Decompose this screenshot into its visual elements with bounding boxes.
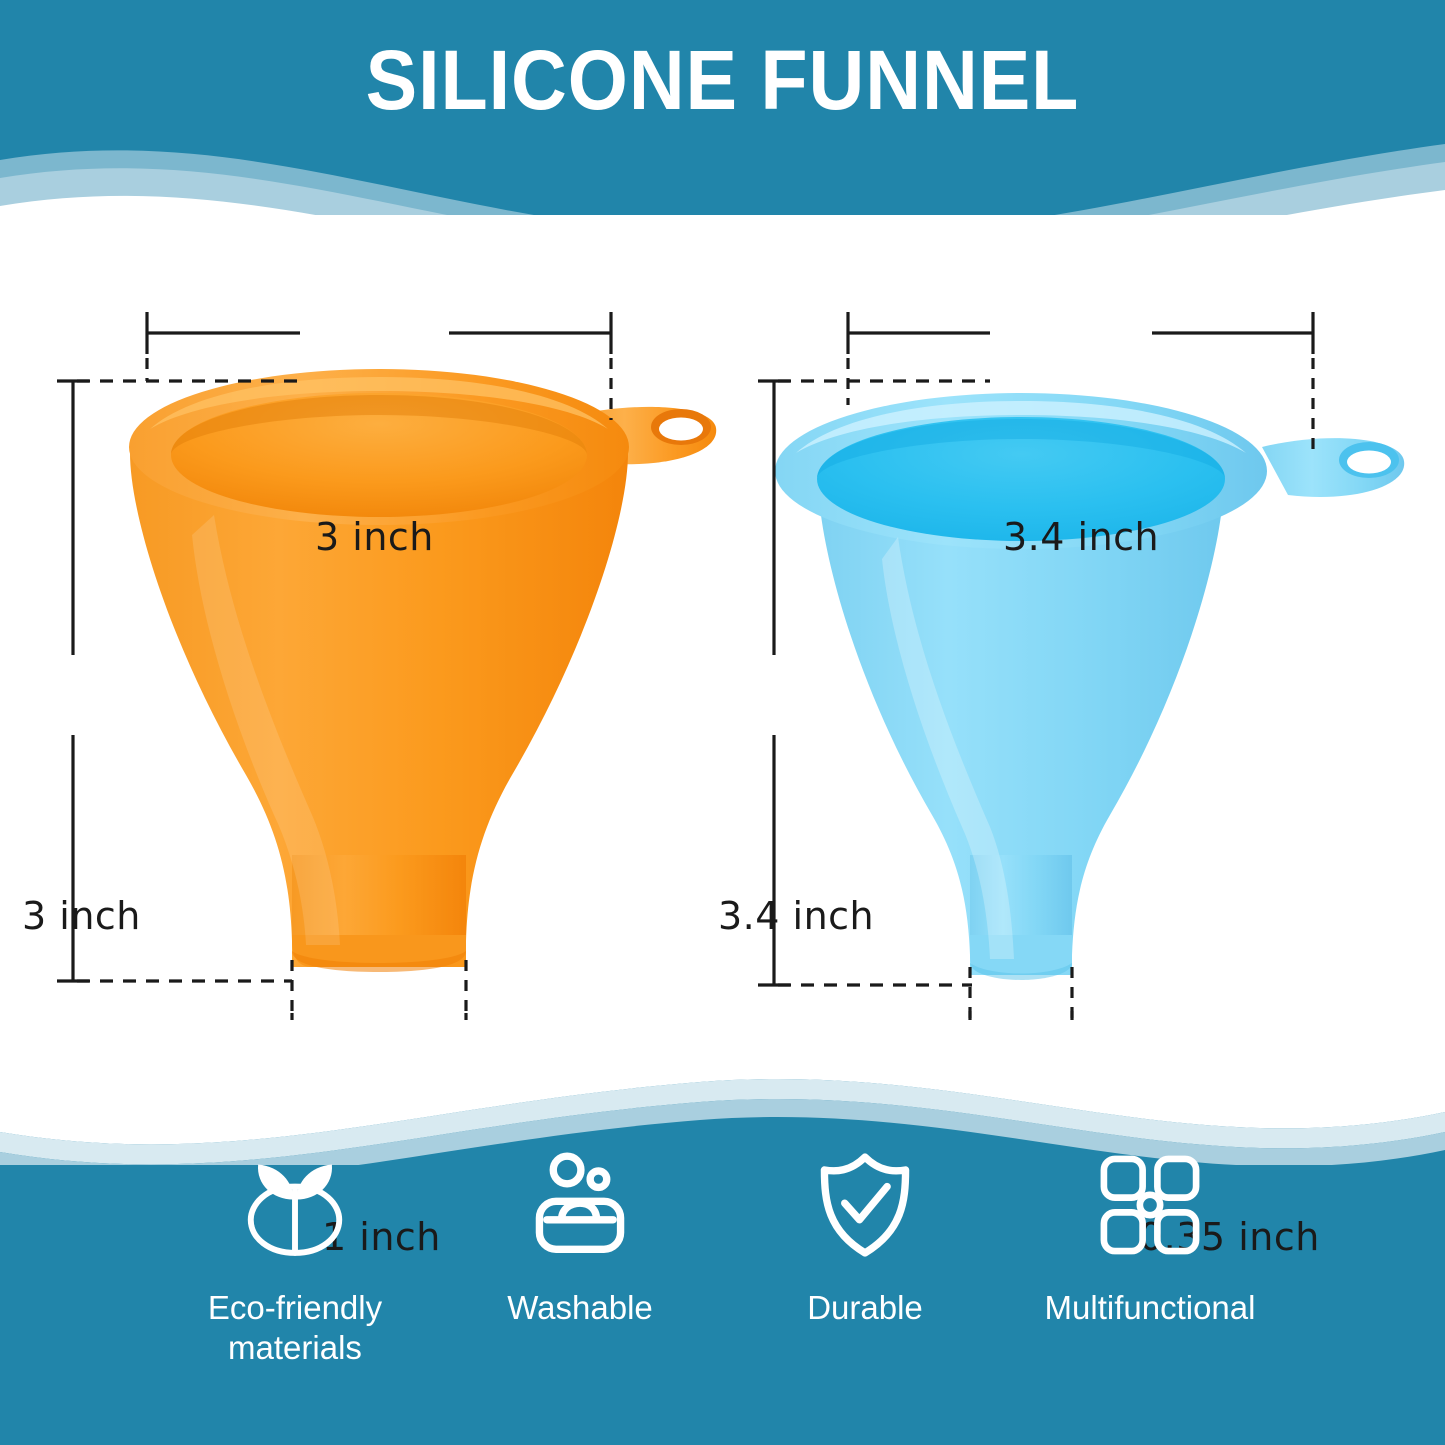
product-illustration bbox=[0, 215, 1445, 1070]
orange-funnel-graphic bbox=[129, 369, 716, 972]
blue-width-label: 3.4 inch bbox=[1003, 515, 1159, 559]
feature-strip: Eco-friendly materials Washable bbox=[0, 1140, 1445, 1445]
washable-person-icon bbox=[515, 1140, 645, 1270]
page-title: SILICONE FUNNEL bbox=[58, 38, 1387, 122]
shield-check-icon bbox=[800, 1140, 930, 1270]
blue-funnel-graphic bbox=[775, 393, 1404, 980]
eco-plant-icon bbox=[230, 1140, 360, 1270]
blue-height-label: 3.4 inch bbox=[718, 894, 874, 938]
product-stage: 3 inch 3 inch 1 inch 3.4 inch 3.4 inch 0… bbox=[0, 215, 1445, 1070]
feature-multifunctional: Multifunctional bbox=[1008, 1140, 1293, 1328]
feature-eco-friendly: Eco-friendly materials bbox=[153, 1140, 438, 1369]
feature-durable: Durable bbox=[723, 1140, 1008, 1328]
feature-label: Durable bbox=[807, 1288, 923, 1328]
orange-height-label: 3 inch bbox=[22, 894, 141, 938]
feature-label: Multifunctional bbox=[1045, 1288, 1256, 1328]
orange-width-label: 3 inch bbox=[315, 515, 434, 559]
feature-label: Washable bbox=[507, 1288, 653, 1328]
feature-label: Eco-friendly materials bbox=[208, 1288, 382, 1369]
product-infographic: SILICONE FUNNEL bbox=[0, 0, 1445, 1445]
feature-washable: Washable bbox=[438, 1140, 723, 1328]
four-squares-icon bbox=[1085, 1140, 1215, 1270]
